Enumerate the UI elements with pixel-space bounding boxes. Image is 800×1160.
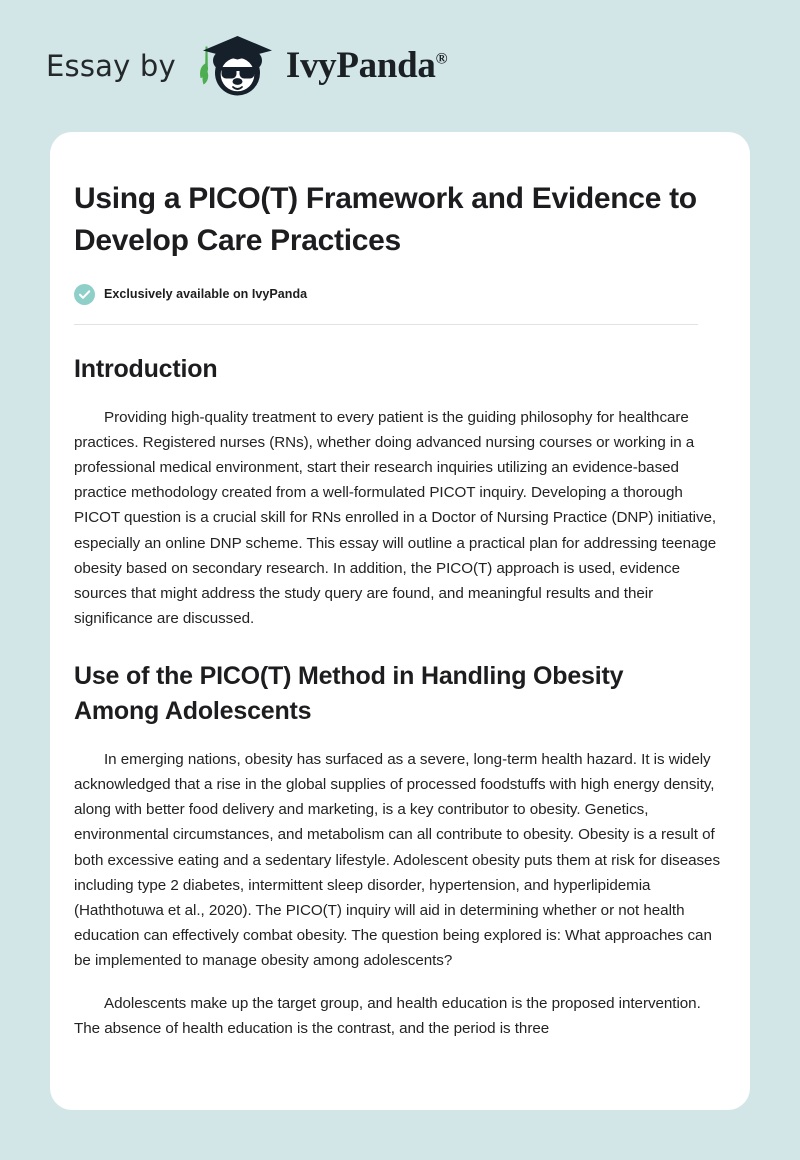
ivypanda-wordmark: IvyPanda® [286,47,448,84]
section-heading-introduction: Introduction [74,352,724,388]
title-divider [74,324,698,325]
check-circle-icon [74,284,95,305]
paragraph: Providing high-quality treatment to ever… [74,405,724,632]
section-heading-pico-method: Use of the PICO(T) Method in Handling Ob… [74,659,724,730]
brand-header: Essay by [0,0,800,132]
paragraph: Adolescents make up the target group, an… [74,991,724,1041]
ivypanda-logo[interactable]: IvyPanda® [190,32,448,98]
registered-mark: ® [436,50,448,67]
page-title: Using a PICO(T) Framework and Evidence t… [74,178,724,262]
status-badge: Exclusively available on IvyPanda [74,284,724,305]
essay-card: Using a PICO(T) Framework and Evidence t… [50,132,750,1110]
paragraph: In emerging nations, obesity has surface… [74,747,724,974]
essay-by-label: Essay by [46,52,176,81]
panda-graduate-icon [190,32,282,98]
brand-name-text: IvyPanda [286,45,436,86]
status-badge-label: Exclusively available on IvyPanda [104,288,307,301]
